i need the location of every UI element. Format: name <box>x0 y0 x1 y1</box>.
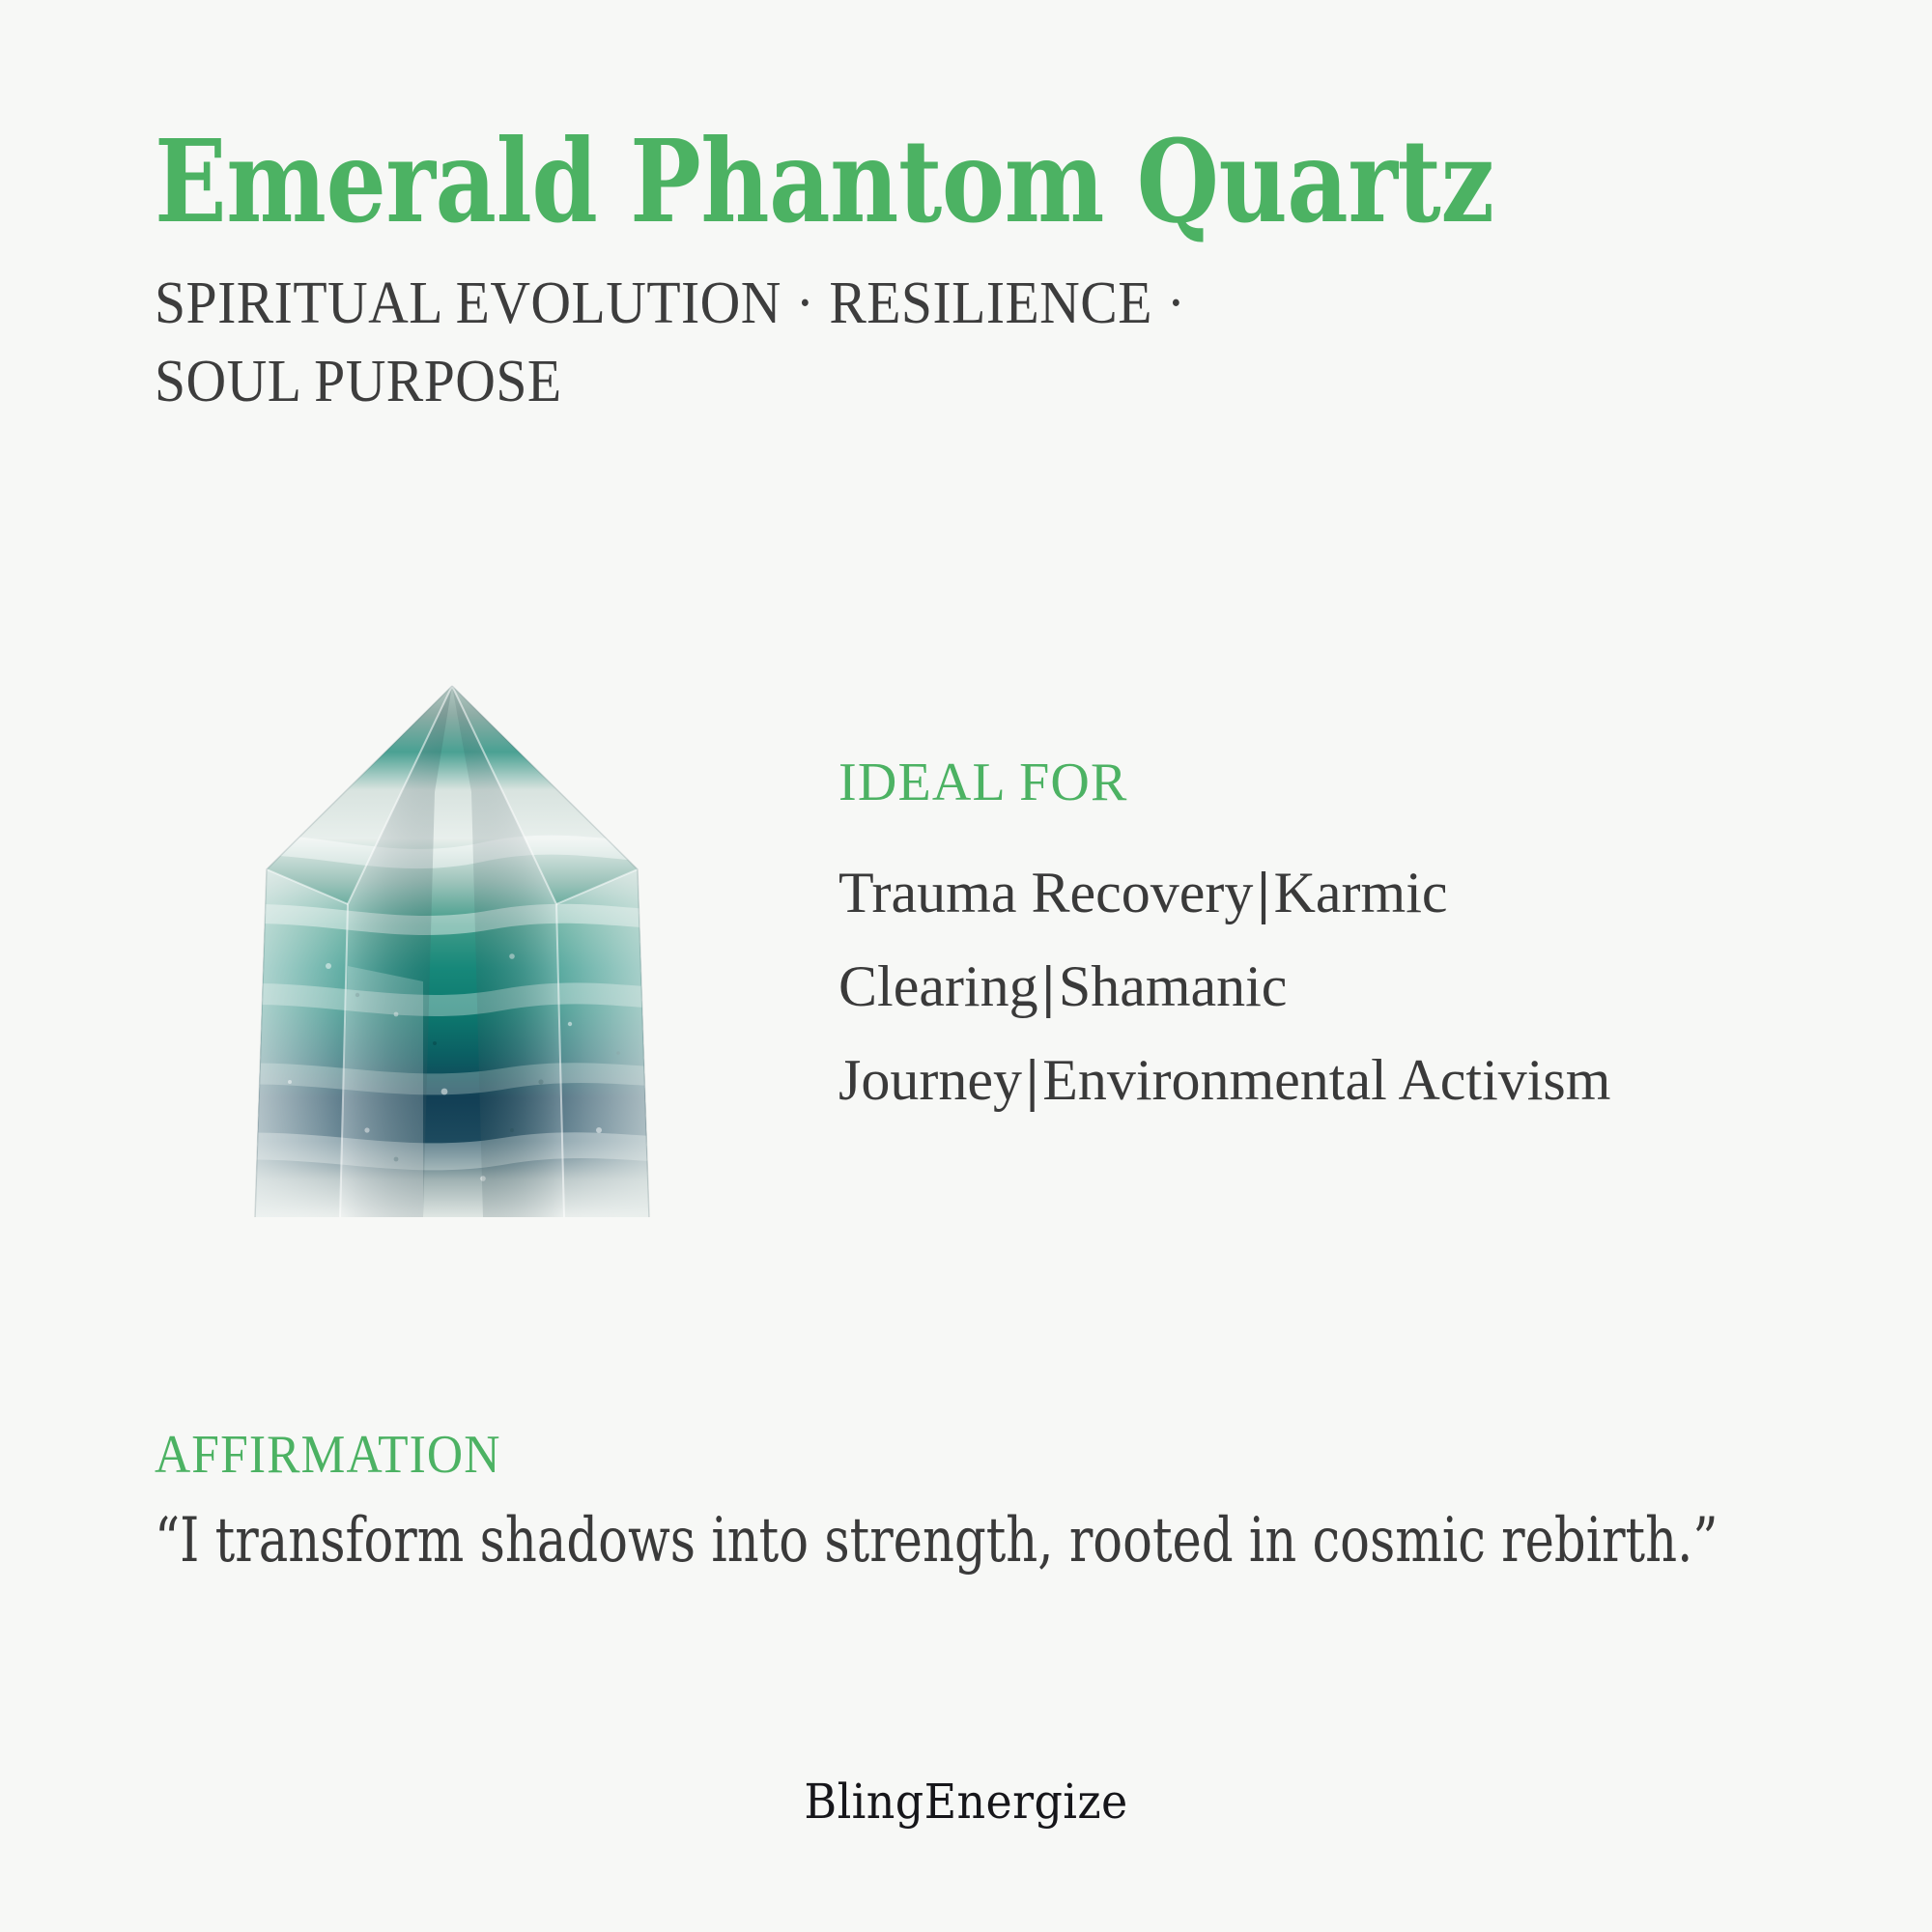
ideal-for-item-4: Environmental Activism <box>1042 1048 1610 1112</box>
ideal-for-label: IDEAL FOR <box>838 755 1795 810</box>
ideal-for-separator-3: | <box>1022 1048 1042 1112</box>
crystal-subfacet <box>340 966 423 1217</box>
crystal-info-card: Emerald Phantom Quartz SPIRITUAL EVOLUTI… <box>0 0 1932 1932</box>
affirmation-section: AFFIRMATION “I transform shadows into st… <box>155 1428 1835 1583</box>
ideal-for-section: IDEAL FOR Trauma Recovery|Karmic Clearin… <box>838 755 1795 1128</box>
ideal-for-item-1: Trauma Recovery <box>838 861 1253 924</box>
page-subtitle: SPIRITUAL EVOLUTION · RESILIENCE · SOUL … <box>155 240 1214 420</box>
affirmation-text: “I transform shadows into strength, root… <box>155 1499 1816 1583</box>
ideal-for-separator-2: | <box>1038 954 1059 1018</box>
header: Emerald Phantom Quartz SPIRITUAL EVOLUTI… <box>155 124 1816 421</box>
ideal-for-list: Trauma Recovery|Karmic Clearing|Shamanic… <box>838 846 1776 1128</box>
crystal-facet-far-left <box>255 869 348 1217</box>
crystal-facet-far-right <box>556 869 649 1217</box>
crystal-image <box>193 676 711 1217</box>
affirmation-label: AFFIRMATION <box>155 1428 1701 1482</box>
brand-wordmark: BlingEnergize <box>77 1774 1855 1830</box>
crystal-point-icon <box>193 676 711 1217</box>
ideal-for-separator-1: | <box>1253 861 1273 924</box>
page-title: Emerald Phantom Quartz <box>155 124 1534 240</box>
